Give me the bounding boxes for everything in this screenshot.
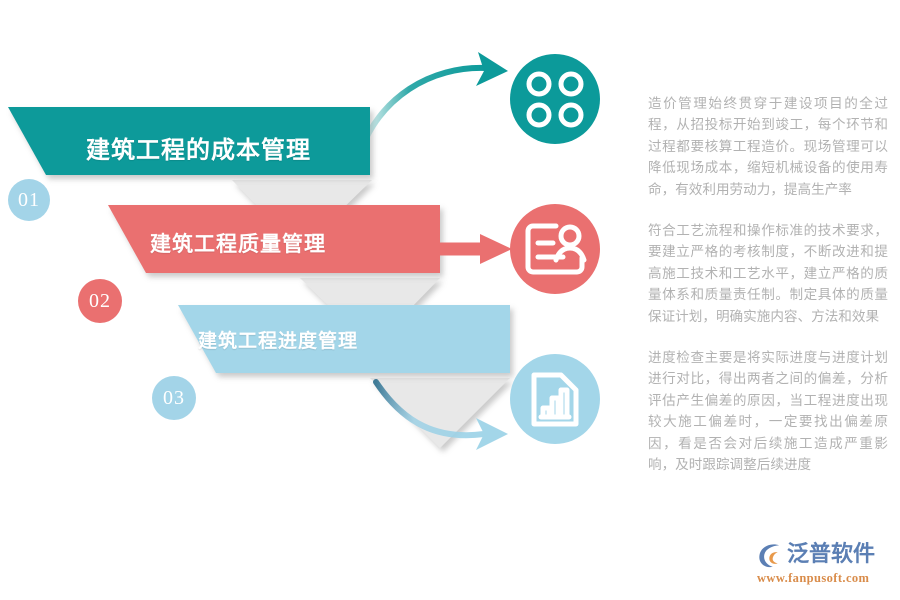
description-paragraph-cost: 造价管理始终贯穿于建设项目的全过程，从招投标开始到竣工，每个环节和过程都要核算工… <box>648 94 888 201</box>
fanpu-swoosh-logo-icon <box>756 541 784 569</box>
connector-arrow-1 <box>358 52 508 158</box>
brand-url: www.fanpusoft.com <box>757 571 896 586</box>
banner-shape-3[interactable] <box>178 305 510 373</box>
icon-circle-3[interactable] <box>510 354 600 444</box>
icon-circle-2[interactable] <box>510 204 600 294</box>
description-column: 造价管理始终贯穿于建设项目的全过程，从招投标开始到竣工，每个环节和过程都要核算工… <box>648 94 888 477</box>
infographic-canvas: 建筑工程的成本管理 建筑工程质量管理 建筑工程进度管理 01 02 03 造价管… <box>0 0 900 600</box>
banner-shape-1[interactable] <box>8 107 370 175</box>
description-paragraph-schedule: 进度检查主要是将实际进度与进度计划进行对比，得出两者之间的偏差，分析评估产生偏差… <box>648 348 888 476</box>
step-badge-02[interactable]: 02 <box>78 279 122 323</box>
brand-wordmark: 泛普软件 <box>787 541 875 569</box>
banner-shape-2[interactable] <box>108 205 440 273</box>
icon-circle-1[interactable] <box>510 54 600 144</box>
brand-logo[interactable]: 泛普软件 www.fanpusoft.com <box>756 540 896 588</box>
step-badge-01[interactable]: 01 <box>8 179 50 221</box>
step-badge-03[interactable]: 03 <box>152 376 196 420</box>
description-paragraph-quality: 符合工艺流程和操作标准的技术要求，要建立严格的考核制度，不断改进和提高施工技术和… <box>648 221 888 328</box>
logo-row: 泛普软件 <box>756 540 896 570</box>
diagram-area: 建筑工程的成本管理 建筑工程质量管理 建筑工程进度管理 01 02 03 <box>0 0 630 600</box>
